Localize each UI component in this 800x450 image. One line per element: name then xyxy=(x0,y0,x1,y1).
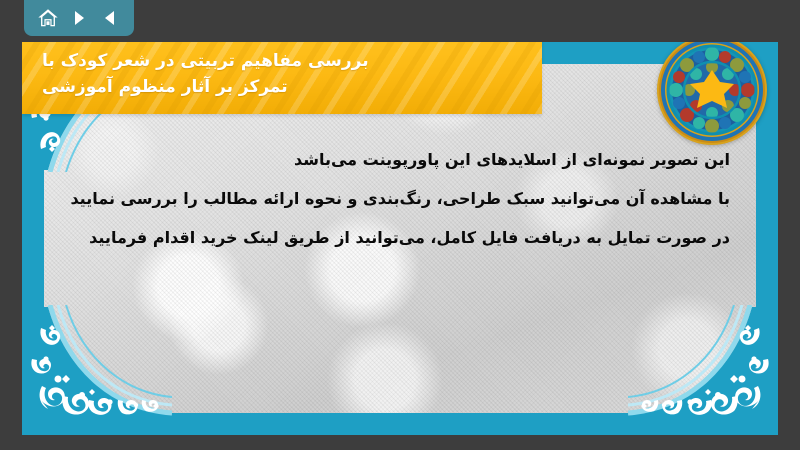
slide-body-line-2: با مشاهده آن می‌توانید سبک طراحی، رنگ‌بن… xyxy=(70,179,730,218)
previous-slide-button[interactable] xyxy=(97,5,123,31)
presentation-slide: بررسی مفاهیم تربیتی در شعر کودک با تمرکز… xyxy=(22,42,778,435)
home-icon xyxy=(37,7,59,29)
islamic-medallion-ornament xyxy=(656,42,768,146)
navigation-bar xyxy=(24,0,134,36)
home-button[interactable] xyxy=(35,5,61,31)
slide-body-text: این تصویر نمونه‌ای از اسلایدهای این پاور… xyxy=(70,140,730,258)
slide-title-line-2: تمرکز بر آثار منظوم آموزشی xyxy=(42,74,288,100)
slide-title-banner: بررسی مفاهیم تربیتی در شعر کودک با تمرکز… xyxy=(22,42,542,114)
triangle-right-icon xyxy=(69,8,89,28)
triangle-left-icon xyxy=(100,8,120,28)
slide-title-line-1: بررسی مفاهیم تربیتی در شعر کودک با xyxy=(42,48,369,74)
slide-viewer: بررسی مفاهیم تربیتی در شعر کودک با تمرکز… xyxy=(0,0,800,450)
slide-body-line-3: در صورت تمایل به دریافت فایل کامل، می‌تو… xyxy=(70,218,730,257)
next-slide-button[interactable] xyxy=(66,5,92,31)
slide-body-line-1: این تصویر نمونه‌ای از اسلایدهای این پاور… xyxy=(70,140,730,179)
